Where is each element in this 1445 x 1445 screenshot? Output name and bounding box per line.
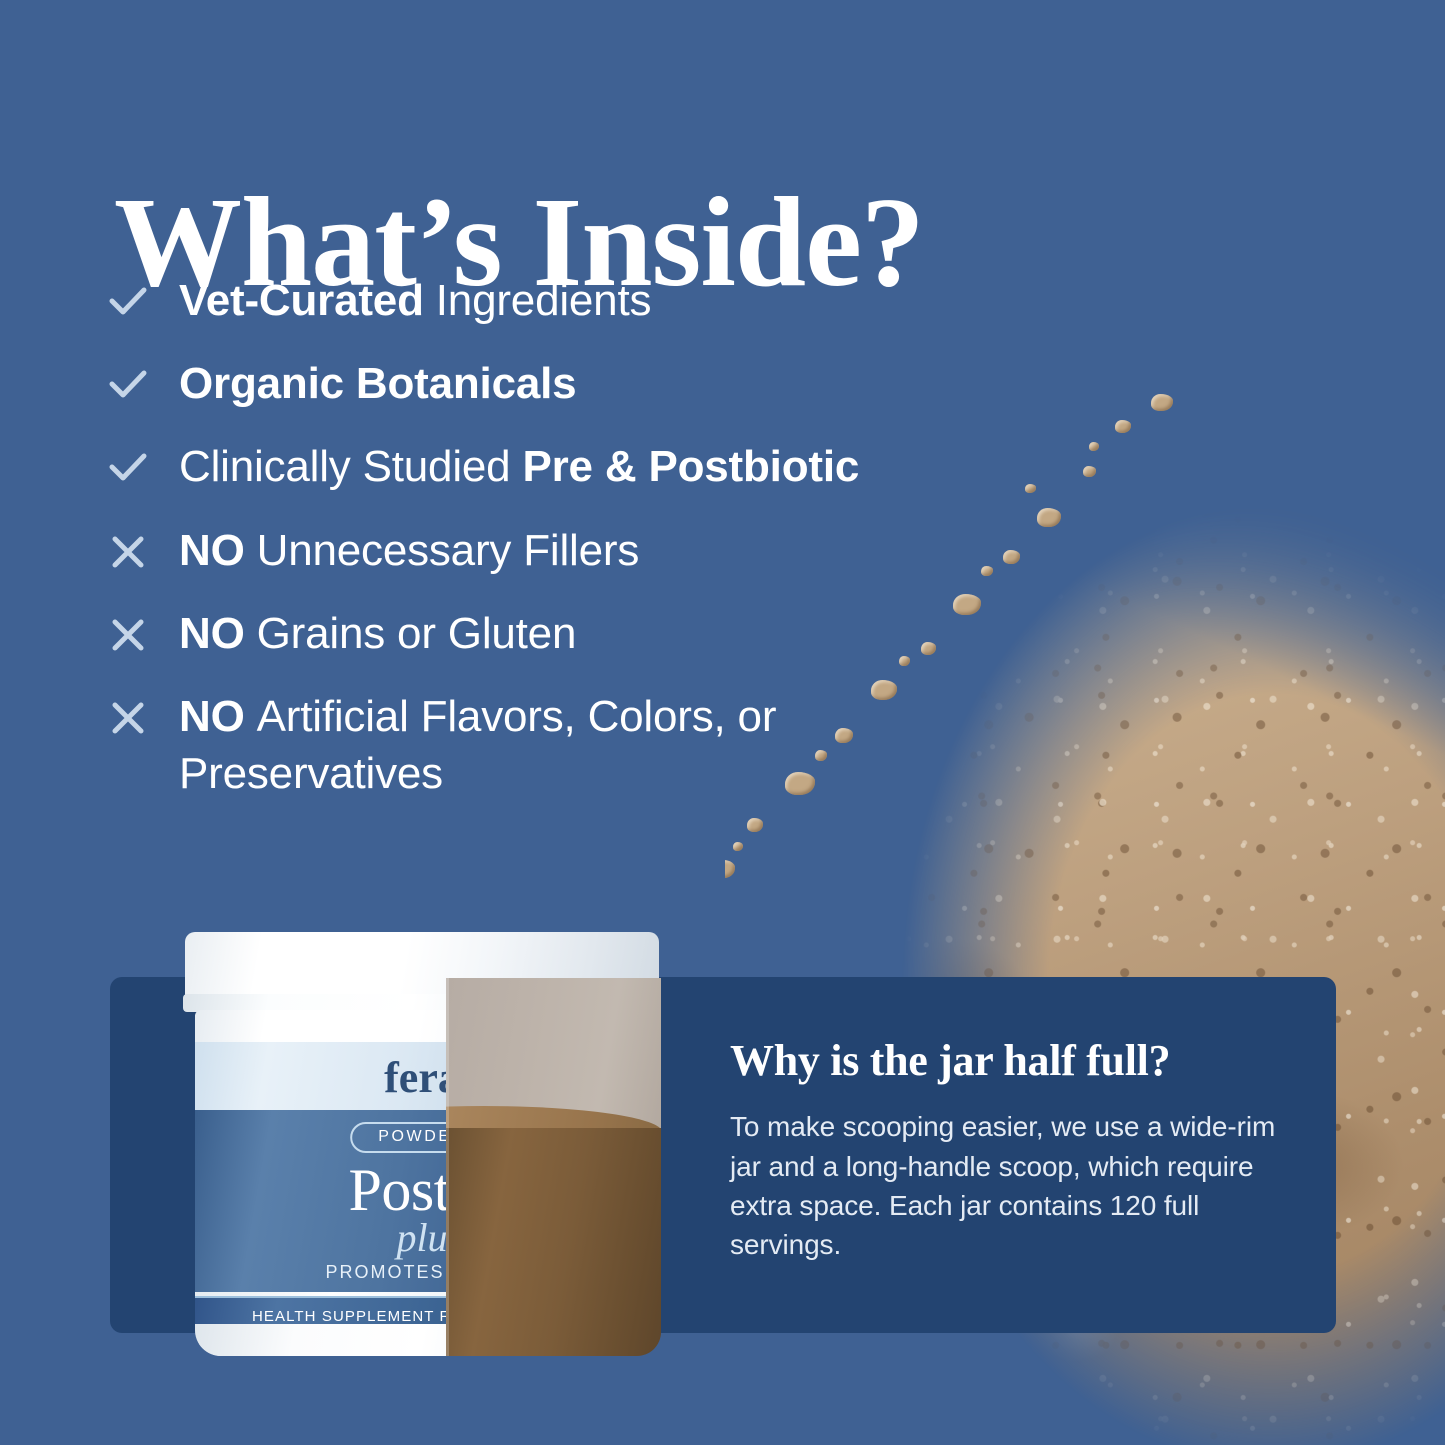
feature-label: NO Grains or Gluten [179,605,576,662]
cutaway-edge [446,978,449,1356]
powder-fill [446,1128,661,1356]
cross-icon [105,695,151,741]
card-title: Why is the jar half full? [730,1037,1290,1085]
check-icon [105,362,151,408]
feature-rest: Clinically Studied [179,442,522,491]
feature-emphasis: Vet-Curated [179,276,436,325]
feature-emphasis: NO [179,526,257,575]
feature-label: Vet-Curated Ingredients [179,272,651,329]
feature-emphasis: NO [179,609,257,658]
check-icon [105,445,151,491]
product-jar: fera POWDER Postbi plu PROMOTES OPTIM HE… [183,932,661,1356]
feature-emphasis: NO [179,692,257,741]
feature-rest: Artificial Flavors, Colors, or Preservat… [179,692,776,798]
list-item: NO Artificial Flavors, Colors, or Preser… [105,688,1105,802]
feature-rest: Grains or Gluten [257,609,577,658]
list-item: NO Grains or Gluten [105,605,1105,662]
feature-label: Clinically Studied Pre & Postbiotic [179,438,859,495]
feature-label: NO Artificial Flavors, Colors, or Preser… [179,688,939,802]
cross-icon [105,612,151,658]
feature-rest: Unnecessary Fillers [257,526,640,575]
list-item: Organic Botanicals [105,355,1105,412]
list-item: Clinically Studied Pre & Postbiotic [105,438,1105,495]
product-infographic: What’s Inside? Vet-Curated Ingredients O… [0,0,1445,1445]
feature-emphasis: Organic Botanicals [179,359,576,408]
feature-label: NO Unnecessary Fillers [179,522,639,579]
cross-icon [105,529,151,575]
feature-rest: Ingredients [436,276,652,325]
feature-emphasis: Pre & Postbiotic [522,442,859,491]
card-copy: Why is the jar half full? To make scoopi… [730,1037,1290,1264]
list-item: Vet-Curated Ingredients [105,272,1105,329]
card-body: To make scooping easier, we use a wide-r… [730,1107,1290,1264]
list-item: NO Unnecessary Fillers [105,522,1105,579]
feature-label: Organic Botanicals [179,355,576,412]
check-icon [105,279,151,325]
feature-list: Vet-Curated Ingredients Organic Botanica… [105,272,1105,828]
jar-cutaway [446,978,661,1356]
